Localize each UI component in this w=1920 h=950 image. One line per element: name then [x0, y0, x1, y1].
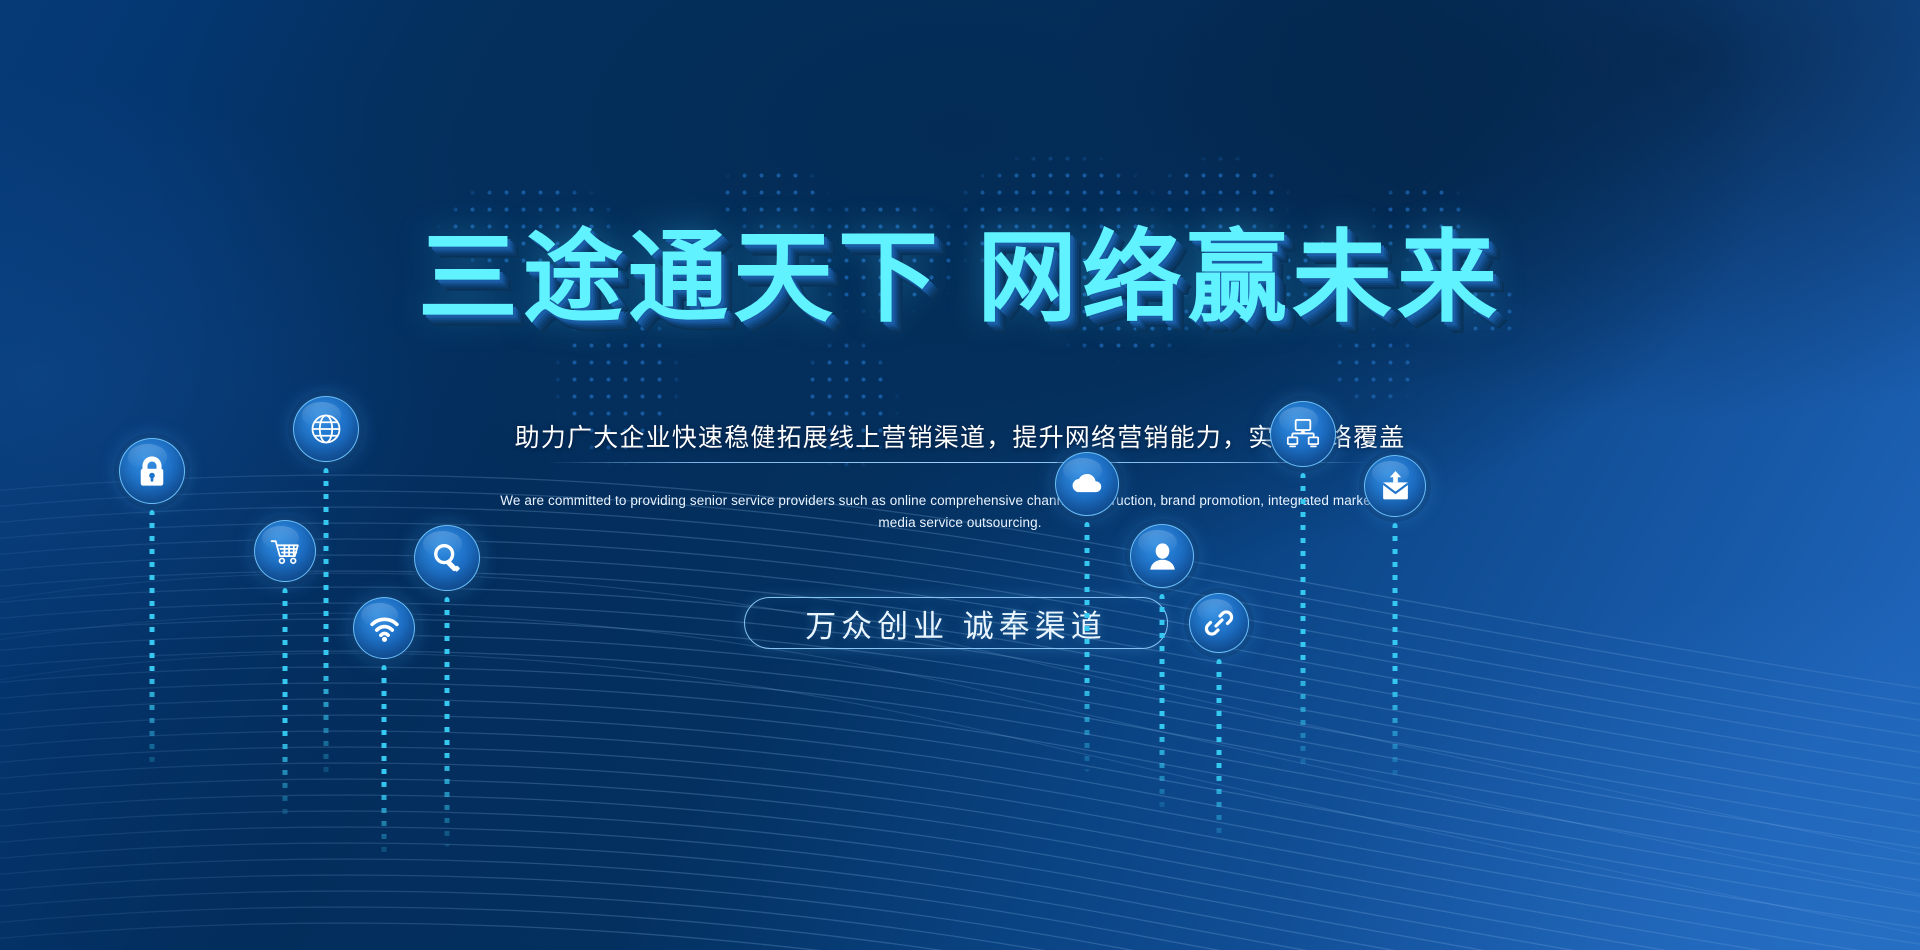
- icon-node-lock[interactable]: [119, 438, 185, 504]
- icon-node-wifi[interactable]: [353, 597, 415, 659]
- headline-part-1: 三途通天下: [418, 222, 943, 334]
- wifi-icon[interactable]: [353, 597, 415, 659]
- subtitle-chinese: 助力广大企业快速稳健拓展线上营销渠道，提升网络营销能力，实现网络覆盖: [0, 418, 1920, 454]
- icon-trail-cart: [283, 588, 288, 818]
- title-divider: [548, 462, 1372, 463]
- icon-node-link[interactable]: [1189, 593, 1249, 653]
- icon-node-cart[interactable]: [254, 520, 316, 582]
- icon-trail-cloud: [1085, 522, 1090, 772]
- cloud-icon[interactable]: [1055, 452, 1119, 516]
- mailsend-icon[interactable]: [1364, 455, 1426, 517]
- slogan-text: 万众创业 诚奉渠道: [805, 601, 1107, 646]
- globe-icon[interactable]: [293, 396, 359, 462]
- promotional-banner: 三途通天下网络赢未来 助力广大企业快速稳健拓展线上营销渠道，提升网络营销能力，实…: [0, 0, 1920, 950]
- icon-node-mailsend[interactable]: [1364, 455, 1426, 517]
- user-icon[interactable]: [1130, 524, 1194, 588]
- cart-icon[interactable]: [254, 520, 316, 582]
- link-icon[interactable]: [1189, 593, 1249, 653]
- page-title: 三途通天下网络赢未来: [0, 228, 1920, 328]
- subtitle-english: We are committed to providing senior ser…: [500, 490, 1420, 534]
- icon-node-user[interactable]: [1130, 524, 1194, 588]
- icon-trail-globe: [324, 468, 329, 778]
- icon-node-globe[interactable]: [293, 396, 359, 462]
- slogan-badge: 万众创业 诚奉渠道: [744, 597, 1168, 649]
- network-icon[interactable]: [1270, 401, 1336, 467]
- headline-part-2: 网络赢未来: [977, 222, 1502, 334]
- icon-trail-search: [445, 597, 450, 847]
- search-icon[interactable]: [414, 525, 480, 591]
- wave-lines-graphic: [0, 400, 1920, 950]
- icon-trail-mailsend: [1393, 523, 1398, 778]
- lock-icon[interactable]: [119, 438, 185, 504]
- icon-trail-user: [1160, 594, 1165, 809]
- icon-node-network[interactable]: [1270, 401, 1336, 467]
- icon-trail-network: [1301, 473, 1306, 773]
- icon-node-cloud[interactable]: [1055, 452, 1119, 516]
- icon-trail-lock: [150, 510, 155, 770]
- icon-trail-wifi: [382, 665, 387, 855]
- icon-trail-link: [1217, 659, 1222, 839]
- icon-node-search[interactable]: [414, 525, 480, 591]
